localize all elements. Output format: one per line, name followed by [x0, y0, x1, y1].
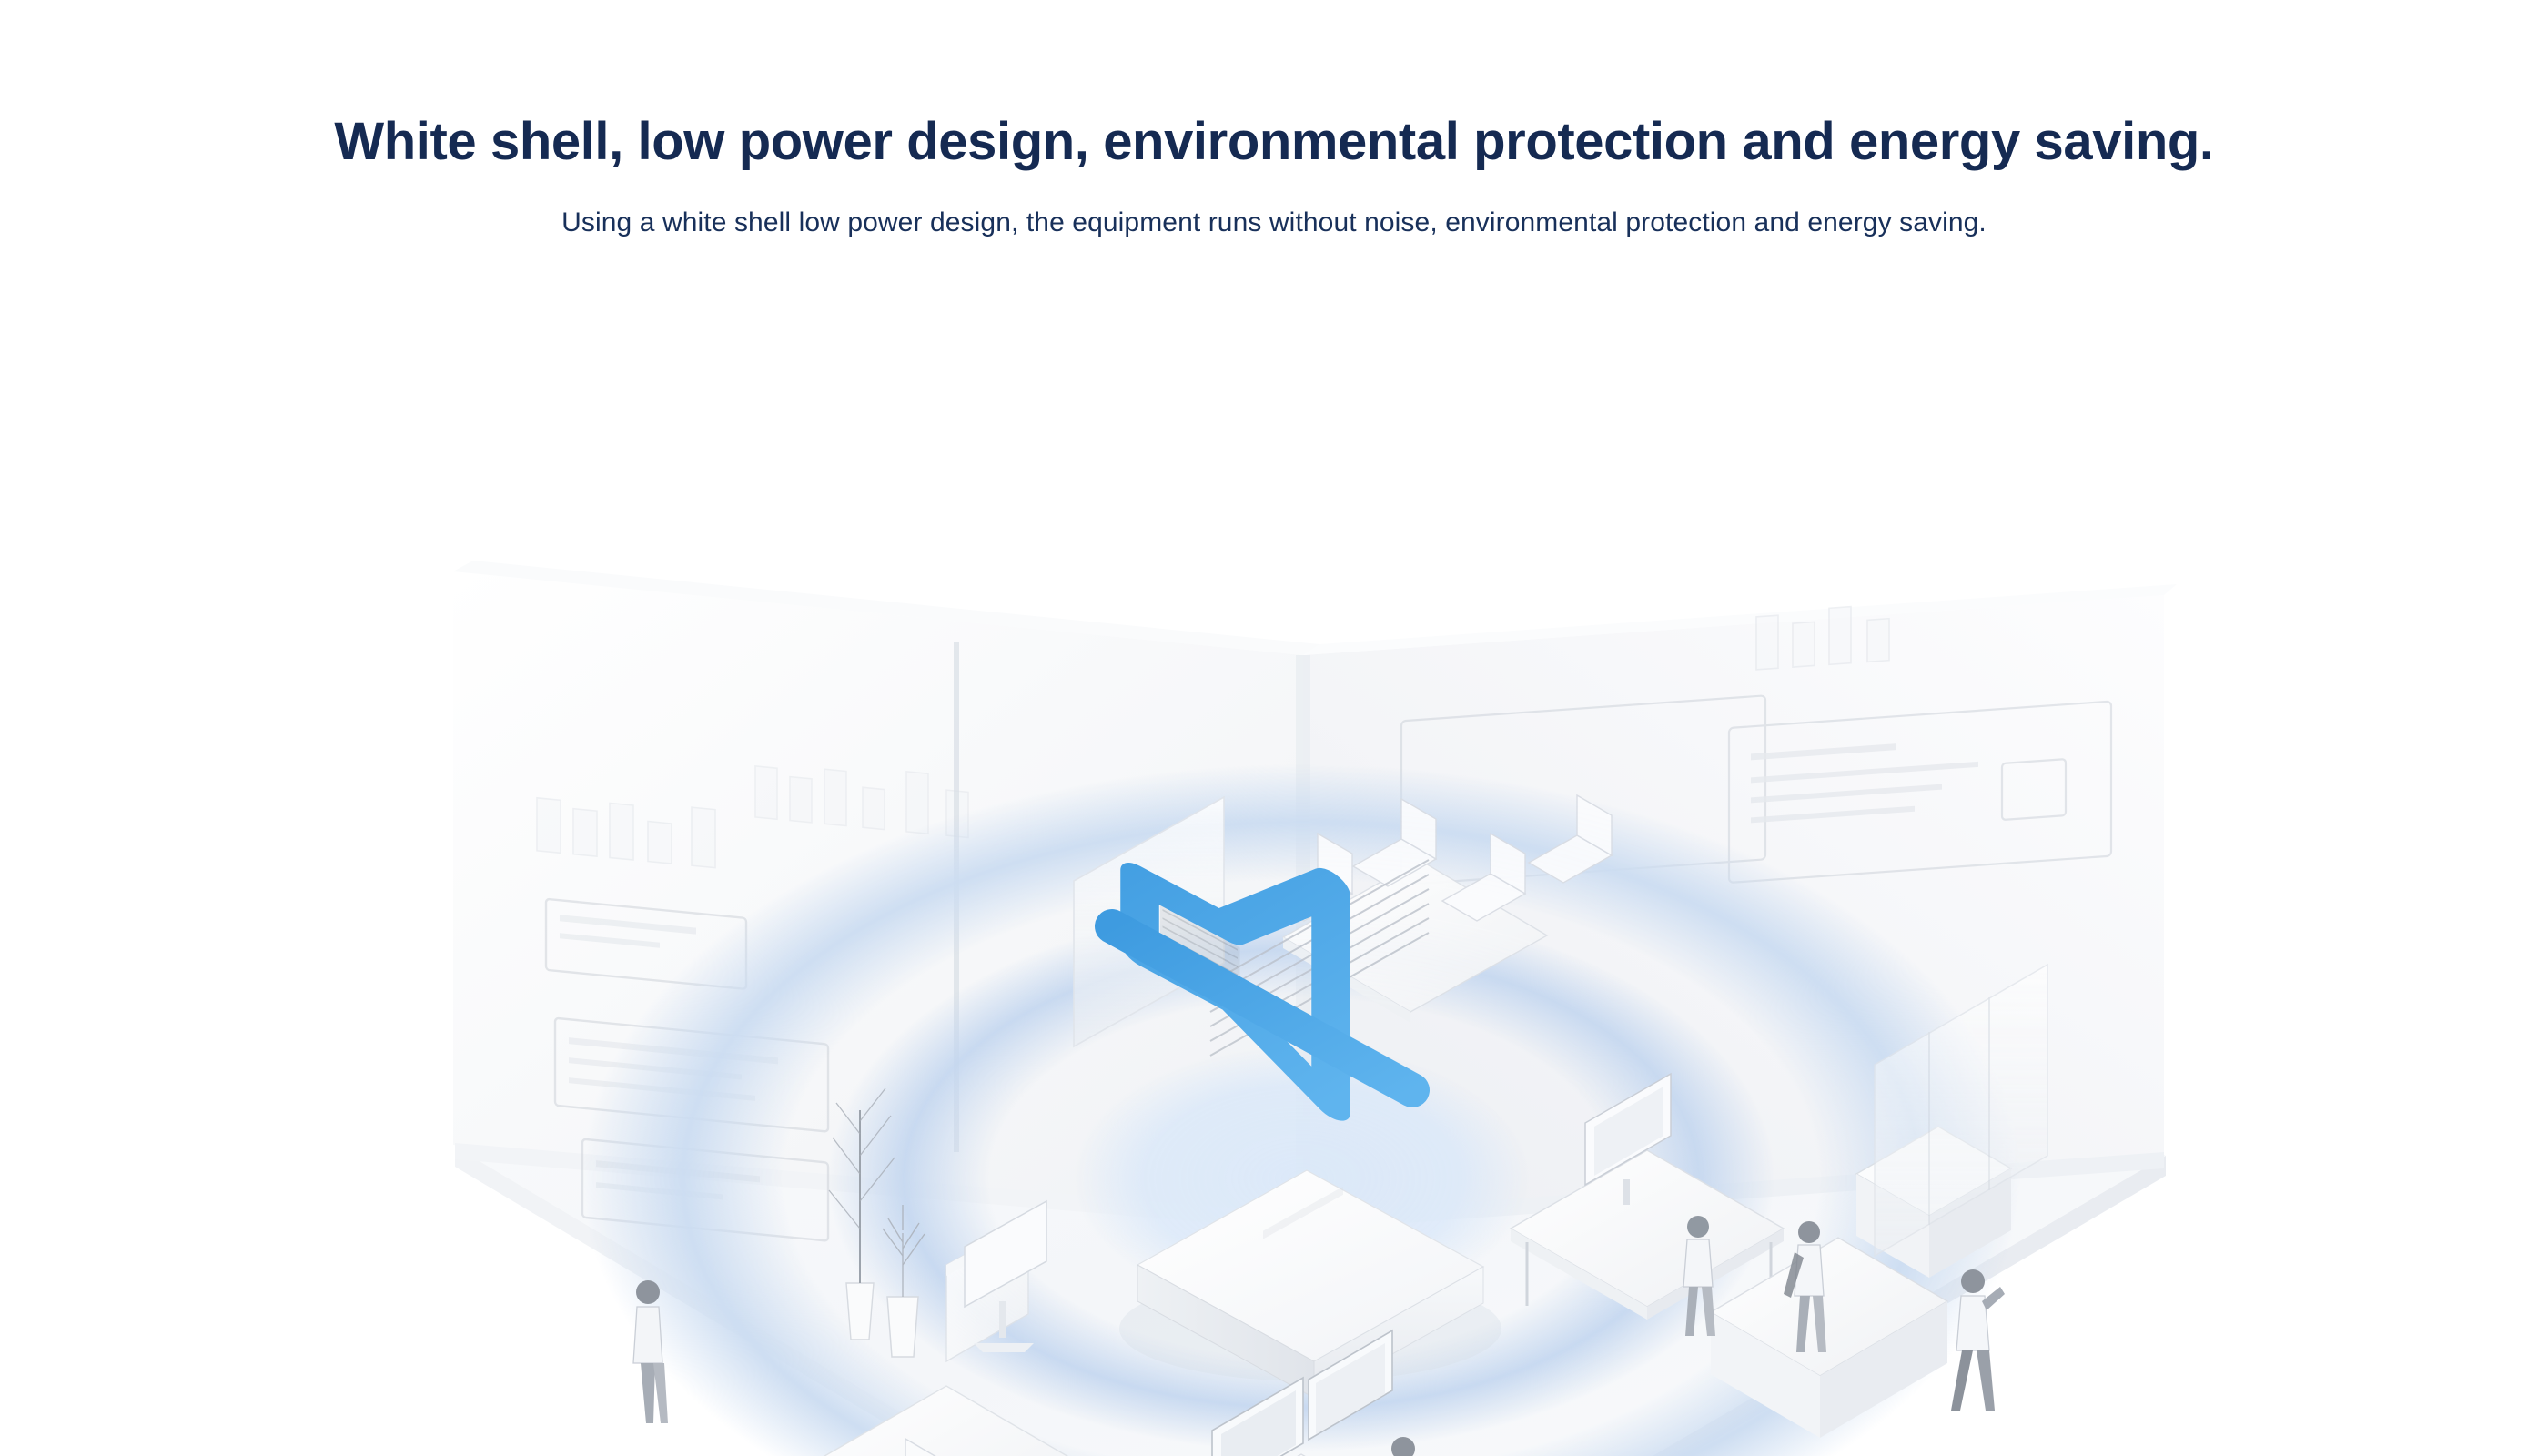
- header-block: White shell, low power design, environme…: [0, 0, 2548, 242]
- isometric-office-illustration: [0, 355, 2548, 1456]
- hero-section: White shell, low power design, environme…: [0, 0, 2548, 1456]
- page-subtitle: Using a white shell low power design, th…: [0, 171, 2548, 242]
- page-title: White shell, low power design, environme…: [218, 0, 2330, 171]
- illustration-stage: [0, 355, 2548, 1456]
